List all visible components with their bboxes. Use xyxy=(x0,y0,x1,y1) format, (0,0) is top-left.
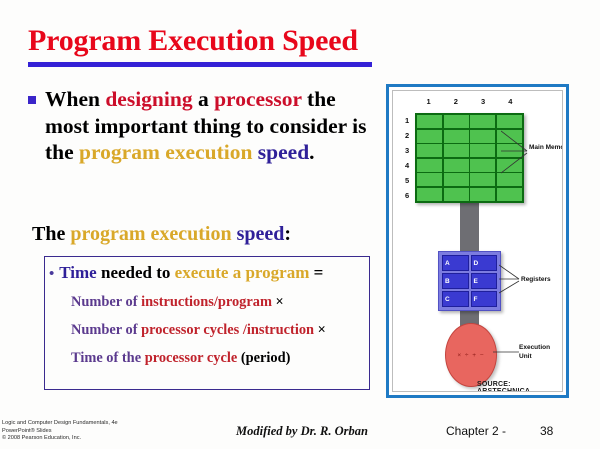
memory-cell xyxy=(417,188,442,201)
speed-seg-the: The xyxy=(32,223,70,245)
formula-seg-instructions-program: instructions/program xyxy=(141,294,272,310)
speed-seg-speed: speed xyxy=(232,223,285,245)
title-block: Program Execution Speed xyxy=(28,24,376,67)
formula-seg-processor-cycle: processor cycle xyxy=(145,350,238,366)
dot-bullet-icon: • xyxy=(49,264,54,284)
memory-cell xyxy=(470,130,495,143)
formula-seg-period: (period) xyxy=(237,350,290,366)
memory-cell xyxy=(444,130,469,143)
bullet-seg-period: . xyxy=(309,140,314,164)
memory-col-label: 2 xyxy=(442,97,469,106)
memory-cell xyxy=(417,173,442,186)
bullet-seg-designing: designing xyxy=(105,87,192,111)
title-underline-rule xyxy=(28,62,372,67)
register-cell-f: F xyxy=(471,291,498,307)
footer-modified-by: Modified by Dr. R. Orban xyxy=(236,424,368,439)
memory-cell xyxy=(417,115,442,128)
register-cell-e: E xyxy=(471,273,498,289)
formula-line-instructions: Number of instructions/program × xyxy=(71,293,363,312)
memory-cell xyxy=(417,144,442,157)
execution-unit-symbols: × ÷ + − xyxy=(457,352,484,359)
bullet-seg-when: When xyxy=(45,87,105,111)
formula-box: • Time needed to execute a program = Num… xyxy=(44,256,370,390)
footer-page-number: 38 xyxy=(540,424,553,438)
formula-line-cycles: Number of processor cycles /instruction … xyxy=(71,321,363,340)
register-cell-d: D xyxy=(471,255,498,271)
slide-canvas: Program Execution Speed When designing a… xyxy=(0,0,600,449)
page-title: Program Execution Speed xyxy=(28,24,376,58)
speed-heading-line: The program execution speed: xyxy=(32,222,291,246)
memory-cell xyxy=(444,144,469,157)
main-bullet-text: When designing a processor the most impo… xyxy=(45,86,378,166)
memory-cell xyxy=(470,159,495,172)
memory-cell xyxy=(444,115,469,128)
registers-block: A D B E C F xyxy=(438,251,501,311)
square-bullet-icon xyxy=(28,96,36,104)
formula-line-cycle-time: Time of the processor cycle (period) xyxy=(71,349,363,368)
execution-unit-leader-line xyxy=(493,347,521,357)
speed-seg-colon: : xyxy=(284,223,291,245)
formula-seg-needed-to: needed to xyxy=(97,263,175,282)
register-cell-a: A xyxy=(442,255,469,271)
memory-row-label: 2 xyxy=(405,128,409,143)
main-memory-label: Main Memory xyxy=(529,144,563,151)
formula-seg-equals: = xyxy=(309,263,323,282)
bullet-seg-program-execution: program execution xyxy=(79,140,252,164)
memory-column-labels: 1 2 3 4 xyxy=(415,97,524,106)
memory-leader-lines xyxy=(501,125,535,179)
execution-unit-shape: × ÷ + − xyxy=(445,323,497,387)
memory-cell xyxy=(497,188,522,201)
footer-credit: Logic and Computer Design Fundamentals, … xyxy=(2,420,118,443)
execution-unit-label: Execution Unit xyxy=(519,343,550,361)
memory-cell xyxy=(444,173,469,186)
footer-credit-line-1: Logic and Computer Design Fundamentals, … xyxy=(2,420,118,428)
execution-unit-label-line2: Unit xyxy=(519,352,550,361)
architecture-diagram-panel: 1 2 3 4 1 2 3 4 5 6 xyxy=(386,84,569,398)
bullet-seg-speed: speed xyxy=(252,140,309,164)
formula-seg-time: Time xyxy=(59,263,96,282)
diagram-source-note: SOURCE: ARSTECHNICA xyxy=(477,381,562,392)
speed-seg-program-execution: program execution xyxy=(70,223,231,245)
main-bullet-item: When designing a processor the most impo… xyxy=(28,86,378,166)
memory-row-label: 6 xyxy=(405,188,409,203)
diagram-inner-frame: 1 2 3 4 1 2 3 4 5 6 xyxy=(392,90,563,392)
formula-line-time-text: Time needed to execute a program = xyxy=(59,262,323,284)
formula-seg-number-of-2: Number of xyxy=(71,322,141,338)
formula-seg-number-of-1: Number of xyxy=(71,294,141,310)
formula-seg-times-1: × xyxy=(272,294,284,310)
footer-credit-line-3: © 2008 Pearson Education, Inc. xyxy=(2,435,118,443)
execution-unit-label-line1: Execution xyxy=(519,343,550,352)
memory-cell xyxy=(444,159,469,172)
formula-line-time: • Time needed to execute a program = xyxy=(49,262,363,284)
memory-col-label: 4 xyxy=(497,97,524,106)
memory-row-label: 1 xyxy=(405,113,409,128)
memory-cell xyxy=(470,115,495,128)
memory-row-label: 4 xyxy=(405,158,409,173)
memory-row-label: 5 xyxy=(405,173,409,188)
bullet-seg-a: a xyxy=(193,87,215,111)
memory-cell xyxy=(470,173,495,186)
formula-seg-times-2: × xyxy=(314,322,326,338)
register-cell-c: C xyxy=(442,291,469,307)
formula-seg-execute-a-program: execute a program xyxy=(175,263,310,282)
memory-cell xyxy=(470,144,495,157)
formula-seg-time-of-the: Time of the xyxy=(71,350,145,366)
memory-col-label: 3 xyxy=(470,97,497,106)
bullet-seg-processor: processor xyxy=(214,87,302,111)
memory-cell xyxy=(444,188,469,201)
memory-cell xyxy=(417,130,442,143)
registers-label: Registers xyxy=(521,276,551,283)
memory-cell xyxy=(417,159,442,172)
memory-row-label: 3 xyxy=(405,143,409,158)
footer-chapter-label: Chapter 2 - xyxy=(446,424,506,438)
memory-row-labels: 1 2 3 4 5 6 xyxy=(405,113,409,203)
formula-seg-processor-cycles: processor cycles /instruction xyxy=(141,322,314,338)
memory-col-label: 1 xyxy=(415,97,442,106)
register-cell-b: B xyxy=(442,273,469,289)
memory-cell xyxy=(470,188,495,201)
